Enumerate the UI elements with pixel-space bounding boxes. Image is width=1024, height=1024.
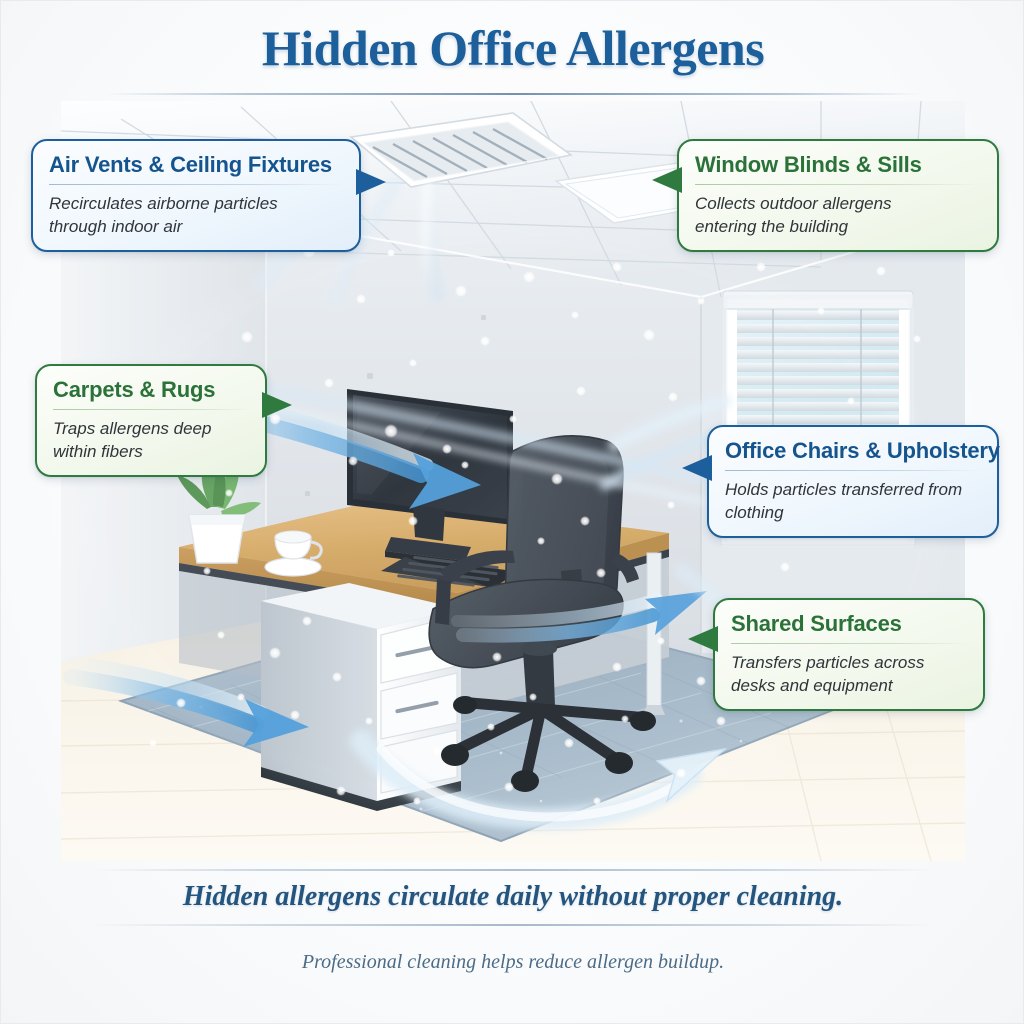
callout-body-carpets-rugs: Traps allergens deep within fibers xyxy=(53,417,249,463)
callout-window-blinds[interactable]: Window Blinds & Sills Collects outdoor a… xyxy=(677,139,999,252)
callout-pointer-right-icon xyxy=(262,392,292,418)
footer-headline: Hidden allergens circulate daily without… xyxy=(1,881,1024,913)
footer-divider-top xyxy=(93,869,933,871)
page-title: Hidden Office Allergens xyxy=(1,19,1024,77)
callout-divider xyxy=(731,643,967,644)
callout-shared-surfaces[interactable]: Shared Surfaces Transfers particles acro… xyxy=(713,598,985,711)
callout-pointer-left-icon xyxy=(688,626,718,652)
callout-title-shared-surfaces: Shared Surfaces xyxy=(731,610,967,638)
title-divider xyxy=(106,93,920,95)
callout-office-chairs[interactable]: Office Chairs & Upholstery Holds particl… xyxy=(707,425,999,538)
callout-divider xyxy=(53,409,249,410)
callout-pointer-left-icon xyxy=(682,455,712,481)
callout-pointer-right-icon xyxy=(356,169,386,195)
callout-body-window-blinds: Collects outdoor allergens entering the … xyxy=(695,192,955,238)
callout-title-air-vents: Air Vents & Ceiling Fixtures xyxy=(49,151,343,179)
callout-divider xyxy=(725,470,981,471)
callout-title-office-chairs: Office Chairs & Upholstery xyxy=(725,437,981,465)
callout-divider xyxy=(695,184,981,185)
callout-title-carpets-rugs: Carpets & Rugs xyxy=(53,376,249,404)
callout-air-vents[interactable]: Air Vents & Ceiling Fixtures Recirculate… xyxy=(31,139,361,252)
callout-body-shared-surfaces: Transfers particles across desks and equ… xyxy=(731,651,967,697)
poster-header: Hidden Office Allergens xyxy=(1,19,1024,77)
callout-divider xyxy=(49,184,343,185)
callout-body-office-chairs: Holds particles transferred from clothin… xyxy=(725,478,981,524)
callout-pointer-left-icon xyxy=(652,167,682,193)
infographic-poster: Hidden Office Allergens xyxy=(0,0,1024,1024)
callout-body-air-vents: Recirculates airborne particles through … xyxy=(49,192,309,238)
footer-subtext: Professional cleaning helps reduce aller… xyxy=(1,951,1024,974)
footer-divider-bottom xyxy=(93,924,933,926)
callout-carpets-rugs[interactable]: Carpets & Rugs Traps allergens deep with… xyxy=(35,364,267,477)
callout-title-window-blinds: Window Blinds & Sills xyxy=(695,151,981,179)
